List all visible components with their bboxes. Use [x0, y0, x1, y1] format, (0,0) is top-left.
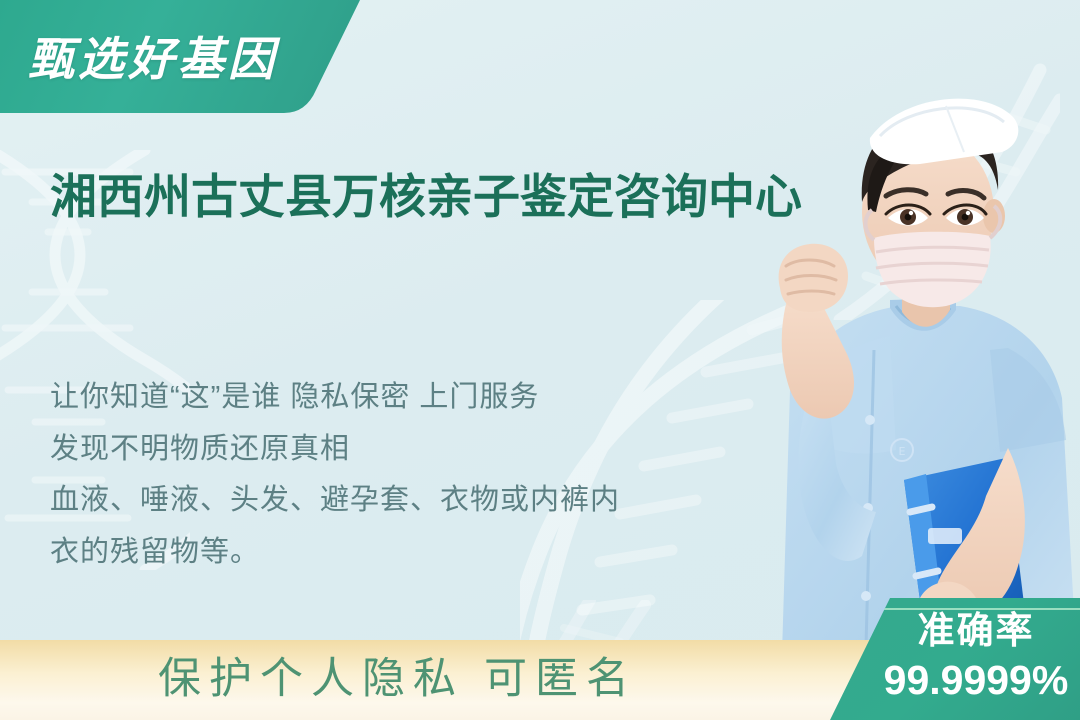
- body-copy-line: 血液、唾液、头发、避孕套、衣物或内裤内: [50, 475, 770, 527]
- svg-text:E: E: [899, 445, 906, 458]
- bottom-slogan: 保护个人隐私 可匿名: [158, 644, 637, 706]
- page-title: 湘西州古丈县万核亲子鉴定咨询中心: [50, 158, 860, 236]
- accuracy-value: 99.9999%: [878, 656, 1074, 705]
- body-copy: 让你知道“这”是谁 隐私保密 上门服务 发现不明物质还原真相 血液、唾液、头发、…: [50, 372, 770, 578]
- body-copy-line: 让你知道“这”是谁 隐私保密 上门服务: [50, 372, 770, 424]
- body-copy-line: 衣的残留物等。: [50, 527, 770, 579]
- accuracy-label: 准确率: [878, 608, 1074, 654]
- brand-logo-badge: 甄选好基因: [0, 0, 360, 113]
- body-copy-line: 发现不明物质还原真相: [50, 424, 770, 476]
- accuracy-badge-text: 准确率 99.9999%: [878, 608, 1074, 705]
- brand-logo-text: 甄选好基因: [28, 36, 278, 82]
- poster-canvas: E: [0, 0, 1080, 720]
